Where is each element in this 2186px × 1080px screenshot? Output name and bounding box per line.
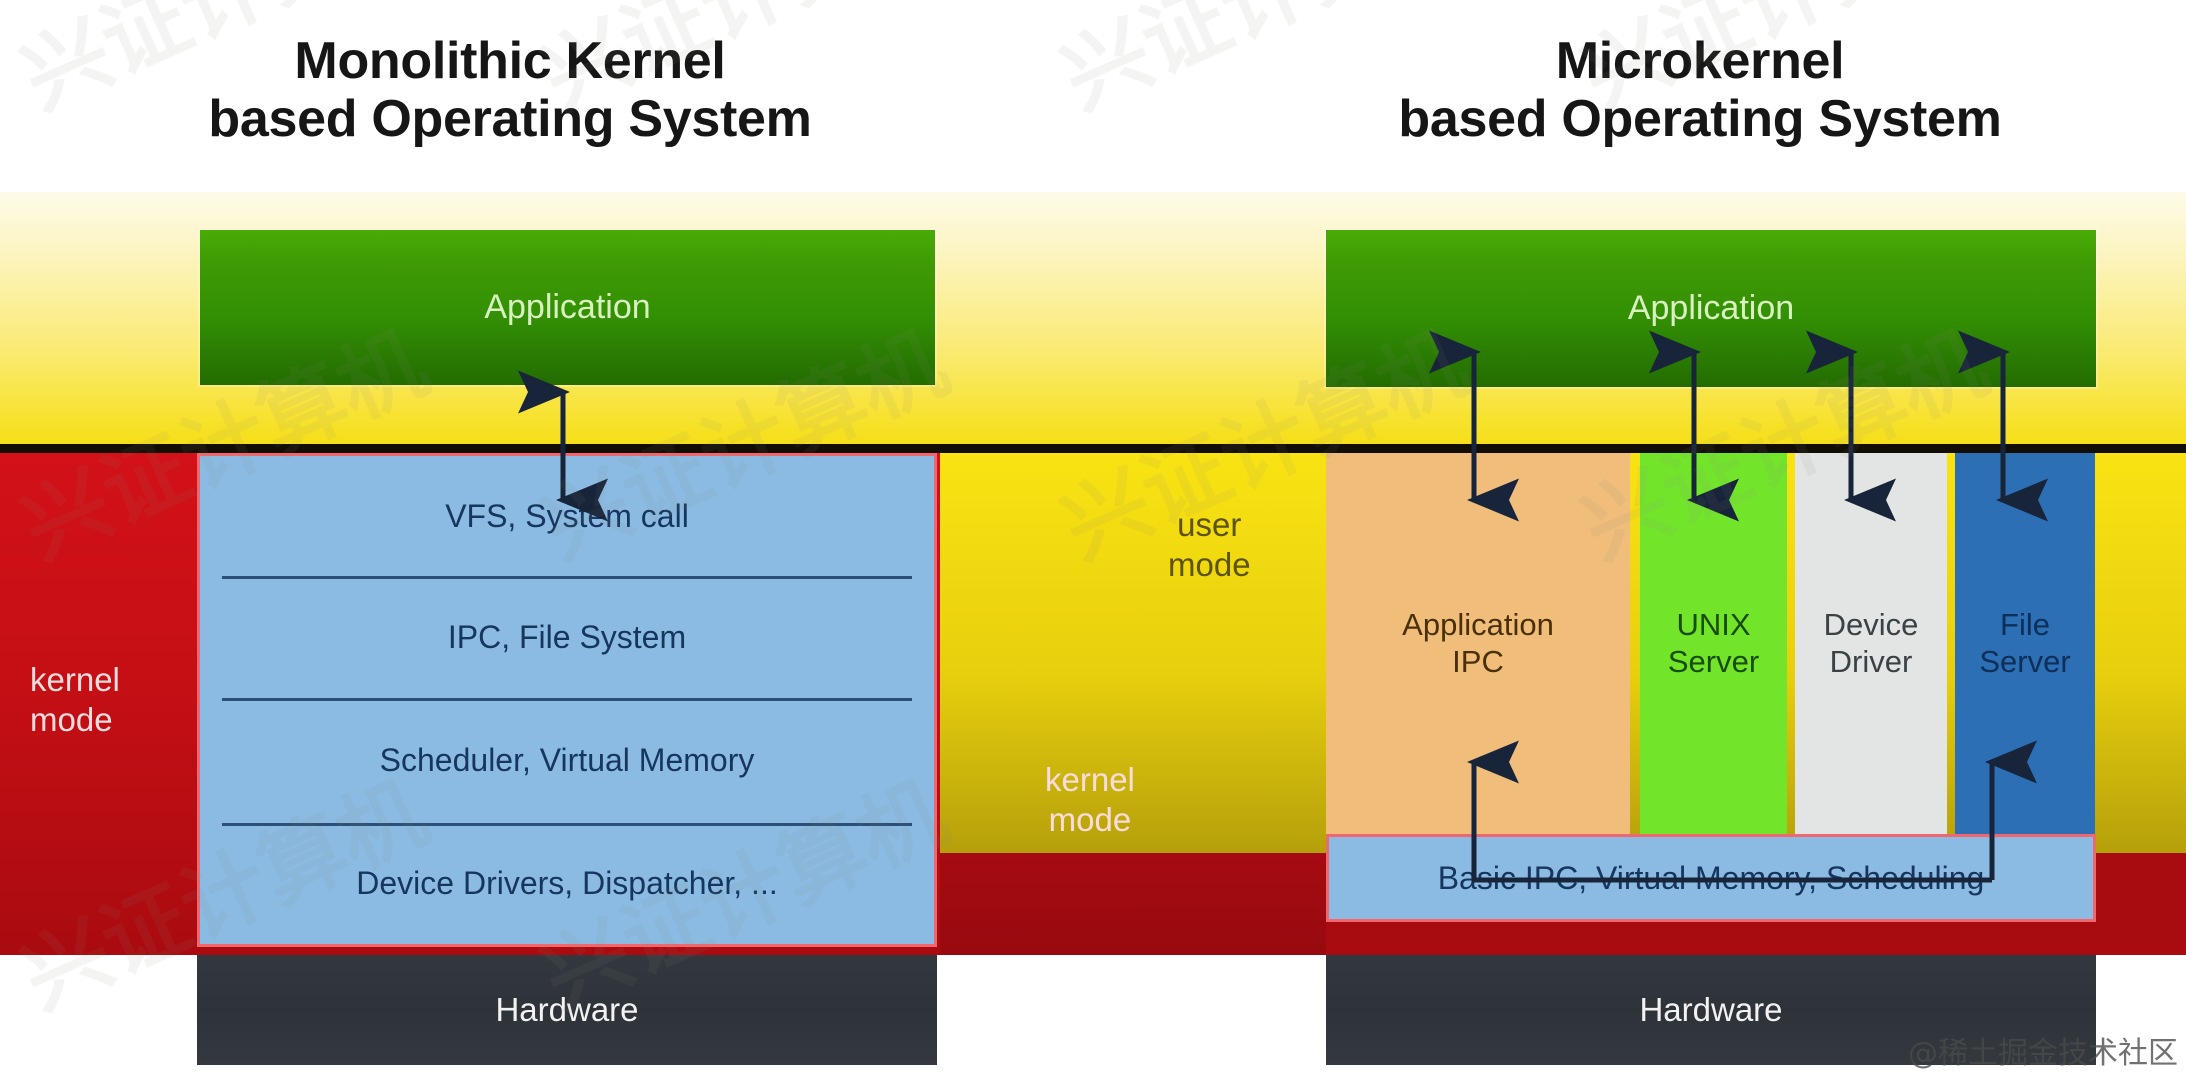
microkernel-application-box[interactable]: Application: [1326, 230, 2096, 387]
user-kernel-boundary-line: [0, 444, 2186, 453]
server-column-device-driver[interactable]: Device Driver: [1795, 453, 1947, 834]
server-label-application-ipc: Application IPC: [1402, 607, 1554, 680]
monolithic-kernel-title: Monolithic Kernel based Operating System: [150, 32, 870, 148]
kernel-row-ipc-file-system[interactable]: IPC, File System: [200, 576, 934, 698]
microkernel-title: Microkernel based Operating System: [1320, 32, 2080, 148]
diagram-canvas: Monolithic Kernel based Operating System…: [0, 0, 2186, 1080]
kernel-row-scheduler-virtual-memory[interactable]: Scheduler, Virtual Memory: [200, 698, 934, 823]
server-column-unix-server[interactable]: UNIX Server: [1640, 453, 1787, 834]
kernel-row-vfs-system-call[interactable]: VFS, System call: [200, 456, 934, 576]
kernel-mode-label-middle: kernel mode: [1045, 760, 1135, 841]
microkernel-application-label: Application: [1628, 289, 1794, 328]
microkernel-base-box[interactable]: Basic IPC, Virtual Memory, Scheduling: [1326, 834, 2096, 922]
monolithic-application-label: Application: [484, 288, 650, 327]
monolithic-application-box[interactable]: Application: [200, 230, 935, 385]
microkernel-hardware-label: Hardware: [1639, 991, 1782, 1029]
kernel-mode-label-left: kernel mode: [30, 660, 120, 741]
watermark-corner-text: @稀土掘金技术社区: [1908, 1028, 2178, 1072]
server-label-device-driver: Device Driver: [1824, 607, 1919, 680]
monolithic-hardware-label: Hardware: [495, 991, 638, 1029]
microkernel-base-label: Basic IPC, Virtual Memory, Scheduling: [1438, 860, 1985, 897]
user-mode-label: user mode: [1168, 505, 1251, 586]
server-column-application-ipc[interactable]: Application IPC: [1326, 453, 1630, 834]
server-label-file-server: File Server: [1979, 607, 2070, 680]
server-label-unix-server: UNIX Server: [1668, 607, 1759, 680]
monolithic-kernel-box[interactable]: VFS, System call IPC, File System Schedu…: [197, 453, 937, 947]
monolithic-hardware-box[interactable]: Hardware: [197, 955, 937, 1065]
kernel-row-device-drivers-dispatcher[interactable]: Device Drivers, Dispatcher, ...: [200, 823, 934, 944]
server-column-file-server[interactable]: File Server: [1955, 453, 2095, 834]
